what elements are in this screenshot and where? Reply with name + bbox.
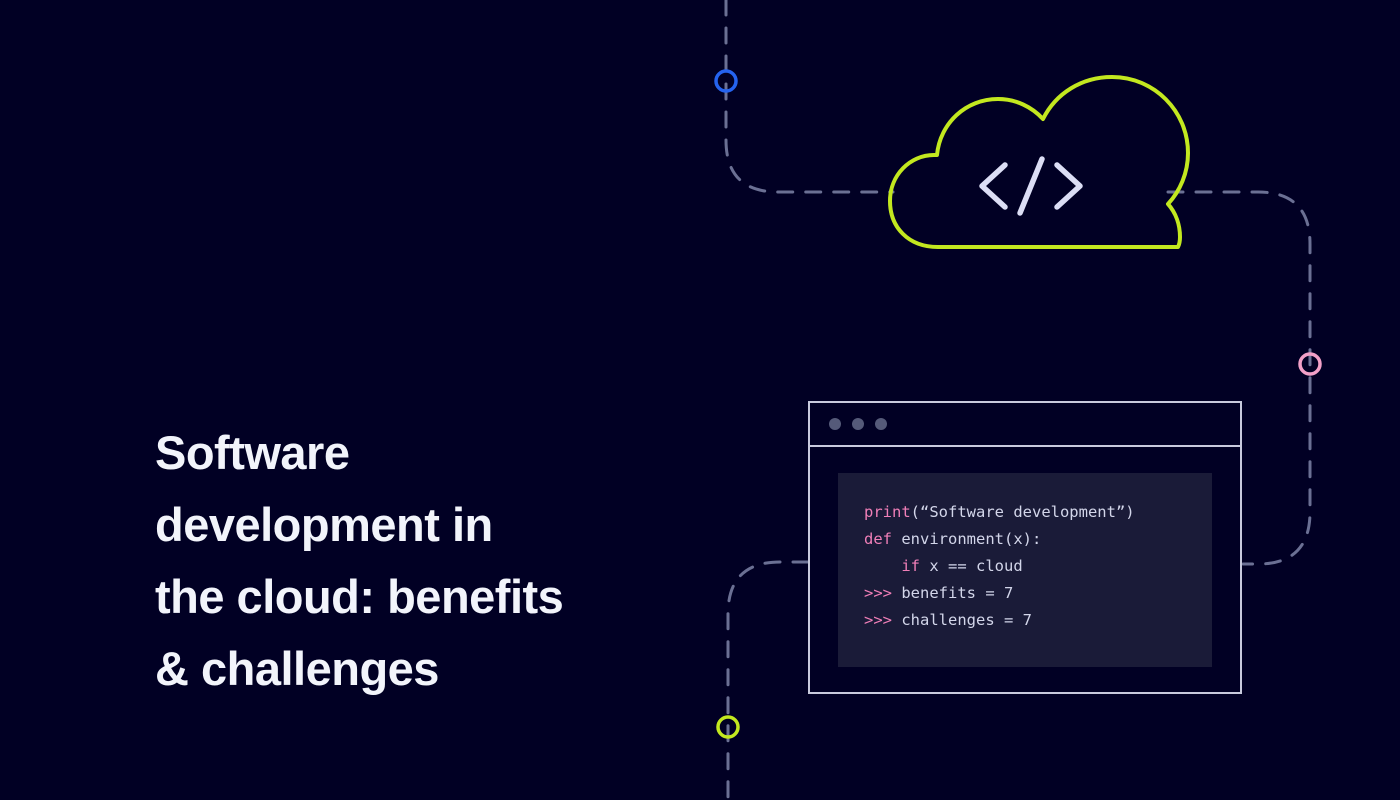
code-line: >>> challenges = 7: [864, 607, 1212, 634]
code-line: def environment(x):: [864, 526, 1212, 553]
code-token: >>>: [864, 584, 892, 602]
code-token: x == cloud: [920, 557, 1023, 575]
code-line: print(“Software development”): [864, 499, 1212, 526]
code-token: def: [864, 530, 892, 548]
code-token: if: [901, 557, 920, 575]
window-dot-maximize-icon[interactable]: [875, 418, 887, 430]
node-blue-icon: [716, 71, 736, 91]
node-yellow-icon: [718, 717, 738, 737]
code-token: challenges = 7: [892, 611, 1032, 629]
code-line: if x == cloud: [864, 553, 1212, 580]
connector-path-bottom-left: [728, 562, 808, 800]
hero-banner: Software development in the cloud: benef…: [0, 0, 1400, 800]
code-brackets-icon: [982, 159, 1080, 213]
code-token: benefits = 7: [892, 584, 1013, 602]
page-title: Software development in the cloud: benef…: [155, 417, 715, 705]
window-dot-close-icon[interactable]: [829, 418, 841, 430]
code-token: environment(x):: [892, 530, 1041, 548]
window-dot-minimize-icon[interactable]: [852, 418, 864, 430]
code-token: (“Software development”): [911, 503, 1135, 521]
code-token: print: [864, 503, 911, 521]
code-window: print(“Software development”)def environ…: [808, 401, 1242, 694]
code-line: >>> benefits = 7: [864, 580, 1212, 607]
window-body: print(“Software development”)def environ…: [810, 447, 1240, 692]
cloud-illustration: [860, 55, 1200, 395]
window-titlebar: [810, 403, 1240, 447]
node-pink-icon: [1300, 354, 1320, 374]
code-token: >>>: [864, 611, 892, 629]
code-editor-panel[interactable]: print(“Software development”)def environ…: [838, 473, 1212, 667]
